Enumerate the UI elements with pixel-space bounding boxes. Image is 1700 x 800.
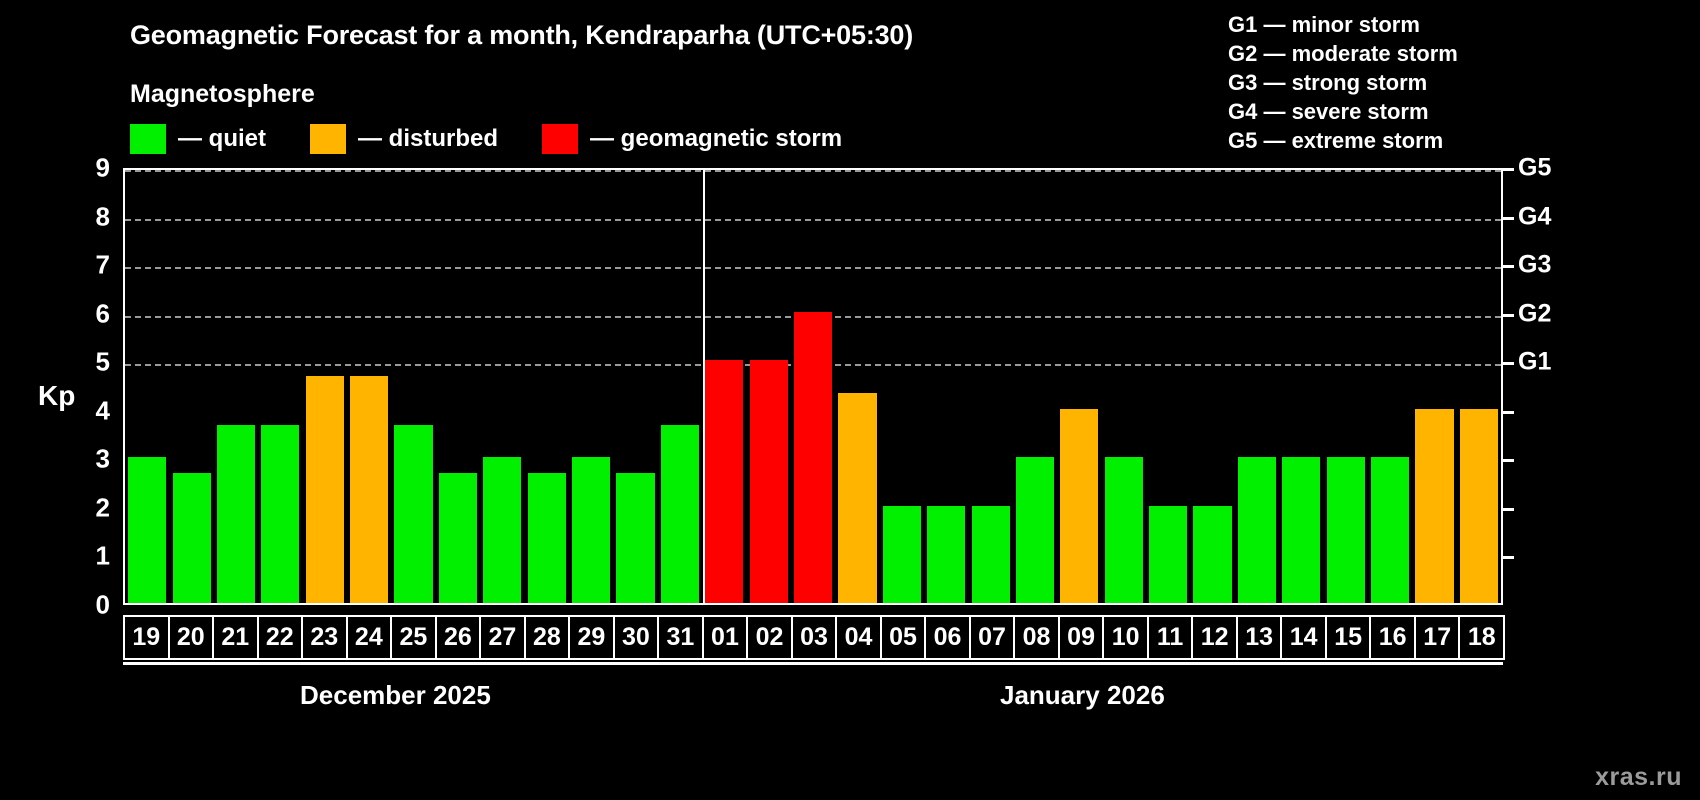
bar-cell[interactable] [1279,170,1323,603]
legend-item-label: — geomagnetic storm [590,125,842,153]
date-box[interactable]: 26 [435,615,482,660]
g-axis-minor-tick [1503,459,1514,462]
bar[interactable] [1193,506,1231,603]
y-tick-label: 2 [70,492,110,523]
bar-cell[interactable] [613,170,657,603]
bar[interactable] [616,473,654,603]
g-tick-mark [1503,265,1514,268]
bar-cell[interactable] [347,170,391,603]
g-tick-label: G4 [1518,202,1551,231]
bar[interactable] [794,312,832,603]
g-axis-minor-tick [1503,508,1514,511]
month-divider [703,170,705,603]
bar[interactable] [972,506,1010,603]
g-scale-legend: G1 — minor stormG2 — moderate stormG3 — … [1228,10,1458,155]
legend-item: — disturbed [310,124,542,154]
y-tick-label: 6 [70,298,110,329]
geomagnetic-forecast-chart: Geomagnetic Forecast for a month, Kendra… [0,0,1700,800]
bar-cell[interactable] [1102,170,1146,603]
bar-cell[interactable] [1057,170,1101,603]
g-scale-line: G3 — strong storm [1228,68,1458,97]
g-scale-line: G1 — minor storm [1228,10,1458,39]
bar-cell[interactable] [1013,170,1057,603]
date-box[interactable]: 21 [212,615,259,660]
date-box[interactable]: 06 [924,615,971,660]
bar-cell[interactable] [525,170,569,603]
bar[interactable] [1238,457,1276,603]
date-box[interactable]: 24 [346,615,393,660]
date-box[interactable]: 16 [1369,615,1416,660]
bar[interactable] [1460,409,1498,603]
date-box[interactable]: 22 [257,615,304,660]
legend-item-label: — disturbed [358,125,498,153]
g-tick-mark [1503,314,1514,317]
bar[interactable] [483,457,521,603]
date-box[interactable]: 09 [1058,615,1105,660]
date-box[interactable]: 18 [1458,615,1505,660]
date-axis: 1920212223242526272829303101020304050607… [123,615,1503,660]
bar[interactable] [661,425,699,603]
g-axis-minor-tick [1503,556,1514,559]
bar-cell[interactable] [968,170,1012,603]
date-box[interactable]: 12 [1191,615,1238,660]
bar[interactable] [1327,457,1365,603]
magnetosphere-legend: — quiet— disturbed— geomagnetic storm [130,124,886,154]
y-tick-label: 8 [70,201,110,232]
plot-area [123,168,1503,605]
bar-cell[interactable] [1412,170,1456,603]
g-tick-mark [1503,168,1514,171]
bar[interactable] [1105,457,1143,603]
bar[interactable] [173,473,211,603]
date-box[interactable]: 11 [1147,615,1194,660]
g-scale-line: G2 — moderate storm [1228,39,1458,68]
bar[interactable] [350,376,388,603]
y-tick-label: 0 [70,590,110,621]
date-box[interactable]: 13 [1236,615,1283,660]
date-box[interactable]: 20 [168,615,215,660]
bar-cell[interactable] [1190,170,1234,603]
date-box[interactable]: 02 [746,615,793,660]
date-box[interactable]: 05 [880,615,927,660]
bar-cell[interactable] [169,170,213,603]
bar-cell[interactable] [880,170,924,603]
g-tick-mark [1503,362,1514,365]
legend-item-label: — quiet [178,125,266,153]
axis-baseline [123,662,1503,665]
bar-cell[interactable] [303,170,347,603]
bar[interactable] [1282,457,1320,603]
date-box[interactable]: 04 [835,615,882,660]
legend-item: — quiet [130,124,310,154]
date-box[interactable]: 17 [1414,615,1461,660]
bar-cell[interactable] [924,170,968,603]
bar[interactable] [528,473,566,603]
bar-cell[interactable] [125,170,169,603]
bar[interactable] [261,425,299,603]
red-swatch-icon [542,124,578,154]
watermark: xras.ru [1595,763,1682,792]
month-label-left: December 2025 [300,680,491,711]
date-box[interactable]: 19 [123,615,170,660]
bar[interactable] [1415,409,1453,603]
bar-cell[interactable] [391,170,435,603]
orange-swatch-icon [310,124,346,154]
bar-cell[interactable] [436,170,480,603]
bar-cell[interactable] [1146,170,1190,603]
y-tick-label: 9 [70,153,110,184]
g-tick-label: G1 [1518,348,1551,377]
green-swatch-icon [130,124,166,154]
date-box[interactable]: 25 [390,615,437,660]
bar-cell[interactable] [1235,170,1279,603]
bar[interactable] [128,457,166,603]
y-tick-label: 1 [70,541,110,572]
date-box[interactable]: 29 [568,615,615,660]
month-label-right: January 2026 [1000,680,1165,711]
y-tick-label: 3 [70,444,110,475]
bar-cell[interactable] [702,170,746,603]
y-tick-label: 5 [70,347,110,378]
date-box[interactable]: 27 [479,615,526,660]
bar-cell[interactable] [214,170,258,603]
bar[interactable] [1149,506,1187,603]
date-box[interactable]: 28 [524,615,571,660]
g-tick-label: G2 [1518,299,1551,328]
date-box[interactable]: 31 [657,615,704,660]
magnetosphere-label: Magnetosphere [130,80,315,109]
bar[interactable] [705,360,743,603]
bar-cell[interactable] [258,170,302,603]
bar[interactable] [572,457,610,603]
date-box[interactable]: 30 [613,615,660,660]
date-box[interactable]: 01 [702,615,749,660]
bar[interactable] [306,376,344,603]
g-tick-mark [1503,217,1514,220]
bar-cell[interactable] [746,170,790,603]
bar[interactable] [1060,409,1098,603]
date-box[interactable]: 03 [791,615,838,660]
bar[interactable] [750,360,788,603]
legend-item: — geomagnetic storm [542,124,886,154]
bar[interactable] [838,393,876,603]
page-title: Geomagnetic Forecast for a month, Kendra… [130,20,913,51]
date-box[interactable]: 14 [1280,615,1327,660]
g-axis-minor-tick [1503,411,1514,414]
bar-cell[interactable] [658,170,702,603]
bar[interactable] [217,425,255,603]
bar[interactable] [394,425,432,603]
date-box[interactable]: 10 [1102,615,1149,660]
g-tick-label: G3 [1518,251,1551,280]
bar-cell[interactable] [1368,170,1412,603]
y-tick-label: 4 [70,395,110,426]
bar[interactable] [927,506,965,603]
bar-cell[interactable] [835,170,879,603]
g-scale-line: G4 — severe storm [1228,97,1458,126]
bar-cell[interactable] [791,170,835,603]
g-tick-label: G5 [1518,154,1551,183]
date-box[interactable]: 15 [1325,615,1372,660]
bar[interactable] [1371,457,1409,603]
bar-series [125,170,1501,603]
bar-cell[interactable] [1457,170,1501,603]
y-tick-label: 7 [70,250,110,281]
bar[interactable] [883,506,921,603]
bar[interactable] [439,473,477,603]
bar-cell[interactable] [1324,170,1368,603]
bar-cell[interactable] [569,170,613,603]
bar-cell[interactable] [480,170,524,603]
bar[interactable] [1016,457,1054,603]
g-scale-line: G5 — extreme storm [1228,126,1458,155]
date-box[interactable]: 07 [969,615,1016,660]
date-box[interactable]: 08 [1013,615,1060,660]
date-box[interactable]: 23 [301,615,348,660]
